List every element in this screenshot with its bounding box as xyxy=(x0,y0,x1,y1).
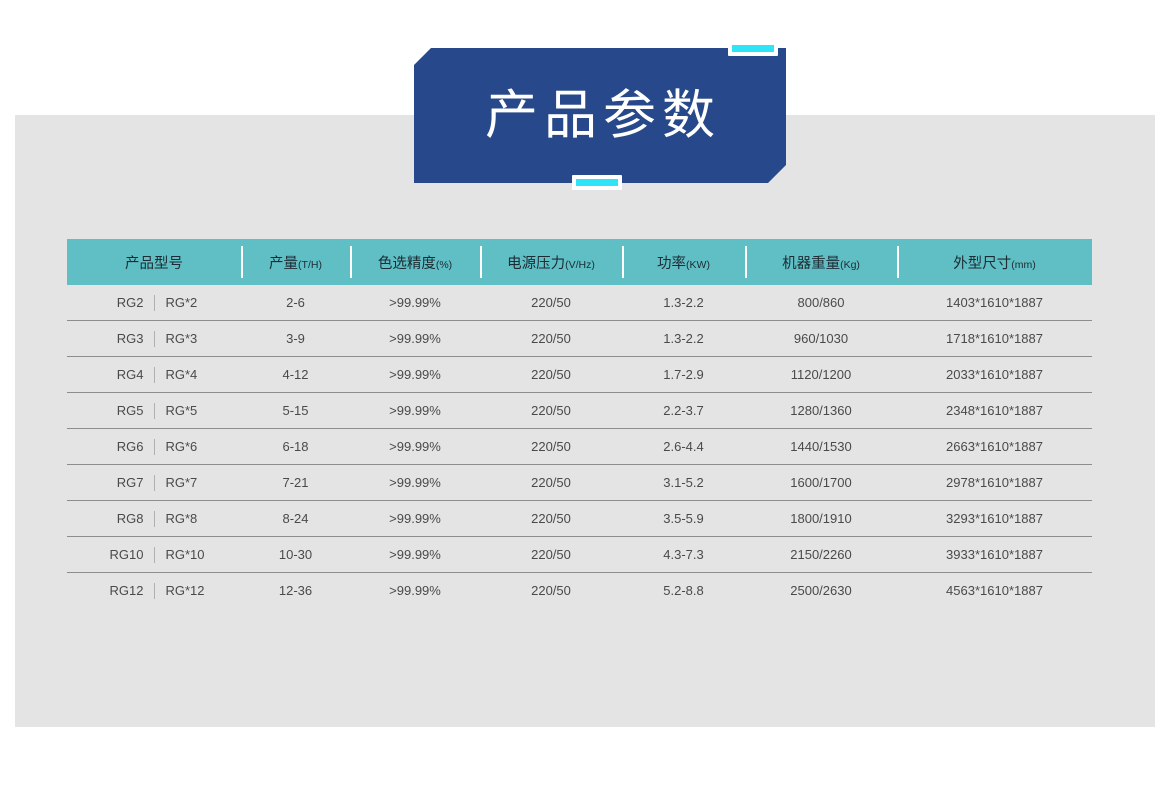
model-primary: RG2 xyxy=(80,295,154,310)
model-pair: RG2RG*2 xyxy=(67,295,241,311)
cell-power: 4.3-7.3 xyxy=(622,537,745,573)
cell-weight: 2500/2630 xyxy=(745,573,897,609)
cell-model: RG5RG*5 xyxy=(67,393,241,429)
cell-dimensions: 1403*1610*1887 xyxy=(897,285,1092,321)
cell-capacity: 4-12 xyxy=(241,357,350,393)
model-secondary: RG*8 xyxy=(155,511,229,526)
cell-model: RG8RG*8 xyxy=(67,501,241,537)
cell-power-supply: 220/50 xyxy=(480,285,622,321)
cell-power-supply: 220/50 xyxy=(480,429,622,465)
specifications-table: 产品型号 产量(T/H) 色选精度(%) 电源压力(V/Hz) 功率(KW) 机… xyxy=(67,239,1092,608)
cell-model: RG6RG*6 xyxy=(67,429,241,465)
cell-capacity: 10-30 xyxy=(241,537,350,573)
cell-power-supply: 220/50 xyxy=(480,393,622,429)
cell-dimensions: 4563*1610*1887 xyxy=(897,573,1092,609)
cell-power: 1.3-2.2 xyxy=(622,285,745,321)
table-row: RG5RG*55-15>99.99%220/502.2-3.71280/1360… xyxy=(67,393,1092,429)
column-header-unit: (%) xyxy=(436,259,452,271)
cell-power: 3.1-5.2 xyxy=(622,465,745,501)
column-header-power-supply: 电源压力(V/Hz) xyxy=(480,239,622,285)
cell-power-supply: 220/50 xyxy=(480,501,622,537)
model-secondary: RG*2 xyxy=(155,295,229,310)
page-title-banner: 产品参数 xyxy=(414,48,786,183)
model-pair: RG3RG*3 xyxy=(67,331,241,347)
cell-power: 1.3-2.2 xyxy=(622,321,745,357)
cell-accuracy: >99.99% xyxy=(350,357,480,393)
cell-accuracy: >99.99% xyxy=(350,501,480,537)
model-primary: RG3 xyxy=(80,331,154,346)
column-header-unit: (Kg) xyxy=(840,259,860,271)
model-secondary: RG*10 xyxy=(155,547,229,562)
column-header-weight: 机器重量(Kg) xyxy=(745,239,897,285)
model-primary: RG5 xyxy=(80,403,154,418)
cell-power-supply: 220/50 xyxy=(480,537,622,573)
cell-weight: 960/1030 xyxy=(745,321,897,357)
cell-weight: 2150/2260 xyxy=(745,537,897,573)
column-header-label: 机器重量 xyxy=(782,256,840,272)
table-row: RG4RG*44-12>99.99%220/501.7-2.91120/1200… xyxy=(67,357,1092,393)
cell-weight: 1120/1200 xyxy=(745,357,897,393)
cell-capacity: 12-36 xyxy=(241,573,350,609)
cell-power-supply: 220/50 xyxy=(480,573,622,609)
model-secondary: RG*6 xyxy=(155,439,229,454)
table-row: RG7RG*77-21>99.99%220/503.1-5.21600/1700… xyxy=(67,465,1092,501)
cell-power: 2.6-4.4 xyxy=(622,429,745,465)
column-header-model: 产品型号 xyxy=(67,239,241,285)
model-secondary: RG*3 xyxy=(155,331,229,346)
model-secondary: RG*12 xyxy=(155,583,229,598)
column-header-dimensions: 外型尺寸(mm) xyxy=(897,239,1092,285)
table-row: RG2RG*22-6>99.99%220/501.3-2.2800/860140… xyxy=(67,285,1092,321)
cell-weight: 1280/1360 xyxy=(745,393,897,429)
model-pair: RG6RG*6 xyxy=(67,439,241,455)
column-header-label: 电源压力 xyxy=(507,256,565,272)
cell-accuracy: >99.99% xyxy=(350,573,480,609)
model-pair: RG12RG*12 xyxy=(67,583,241,599)
column-header-label: 产品型号 xyxy=(125,256,183,272)
model-primary: RG4 xyxy=(80,367,154,382)
cell-dimensions: 1718*1610*1887 xyxy=(897,321,1092,357)
column-header-unit: (KW) xyxy=(686,259,710,271)
cell-model: RG7RG*7 xyxy=(67,465,241,501)
column-header-label: 功率 xyxy=(657,256,686,272)
cell-capacity: 2-6 xyxy=(241,285,350,321)
cell-power: 3.5-5.9 xyxy=(622,501,745,537)
cell-dimensions: 2978*1610*1887 xyxy=(897,465,1092,501)
model-primary: RG12 xyxy=(80,583,154,598)
cell-dimensions: 3293*1610*1887 xyxy=(897,501,1092,537)
table-row: RG8RG*88-24>99.99%220/503.5-5.91800/1910… xyxy=(67,501,1092,537)
cell-accuracy: >99.99% xyxy=(350,537,480,573)
column-header-label: 外型尺寸 xyxy=(953,256,1011,272)
column-header-unit: (mm) xyxy=(1011,259,1036,271)
model-secondary: RG*4 xyxy=(155,367,229,382)
table-row: RG3RG*33-9>99.99%220/501.3-2.2960/103017… xyxy=(67,321,1092,357)
cell-accuracy: >99.99% xyxy=(350,393,480,429)
cell-capacity: 3-9 xyxy=(241,321,350,357)
cell-dimensions: 2663*1610*1887 xyxy=(897,429,1092,465)
model-primary: RG7 xyxy=(80,475,154,490)
cell-power-supply: 220/50 xyxy=(480,465,622,501)
cell-capacity: 8-24 xyxy=(241,501,350,537)
column-header-unit: (T/H) xyxy=(298,259,322,271)
cell-model: RG3RG*3 xyxy=(67,321,241,357)
column-header-label: 产量 xyxy=(269,256,298,272)
cell-model: RG4RG*4 xyxy=(67,357,241,393)
table-row: RG12RG*1212-36>99.99%220/505.2-8.82500/2… xyxy=(67,573,1092,609)
cell-power-supply: 220/50 xyxy=(480,321,622,357)
column-header-capacity: 产量(T/H) xyxy=(241,239,350,285)
column-header-label: 色选精度 xyxy=(378,256,436,272)
model-pair: RG4RG*4 xyxy=(67,367,241,383)
cell-power: 2.2-3.7 xyxy=(622,393,745,429)
cell-capacity: 7-21 xyxy=(241,465,350,501)
cell-accuracy: >99.99% xyxy=(350,465,480,501)
model-primary: RG10 xyxy=(80,547,154,562)
cell-model: RG10RG*10 xyxy=(67,537,241,573)
cell-accuracy: >99.99% xyxy=(350,429,480,465)
model-pair: RG5RG*5 xyxy=(67,403,241,419)
cell-dimensions: 2348*1610*1887 xyxy=(897,393,1092,429)
cell-capacity: 6-18 xyxy=(241,429,350,465)
model-secondary: RG*7 xyxy=(155,475,229,490)
model-pair: RG8RG*8 xyxy=(67,511,241,527)
model-pair: RG10RG*10 xyxy=(67,547,241,563)
cell-weight: 1440/1530 xyxy=(745,429,897,465)
cell-capacity: 5-15 xyxy=(241,393,350,429)
cell-weight: 1600/1700 xyxy=(745,465,897,501)
column-header-unit: (V/Hz) xyxy=(565,259,595,271)
cell-dimensions: 2033*1610*1887 xyxy=(897,357,1092,393)
cell-dimensions: 3933*1610*1887 xyxy=(897,537,1092,573)
table-header-row: 产品型号 产量(T/H) 色选精度(%) 电源压力(V/Hz) 功率(KW) 机… xyxy=(67,239,1092,285)
cell-model: RG12RG*12 xyxy=(67,573,241,609)
column-header-power: 功率(KW) xyxy=(622,239,745,285)
cell-weight: 800/860 xyxy=(745,285,897,321)
page-title: 产品参数 xyxy=(414,48,786,183)
model-secondary: RG*5 xyxy=(155,403,229,418)
model-primary: RG6 xyxy=(80,439,154,454)
table-row: RG6RG*66-18>99.99%220/502.6-4.41440/1530… xyxy=(67,429,1092,465)
column-header-accuracy: 色选精度(%) xyxy=(350,239,480,285)
cell-accuracy: >99.99% xyxy=(350,285,480,321)
table-row: RG10RG*1010-30>99.99%220/504.3-7.32150/2… xyxy=(67,537,1092,573)
table-body: RG2RG*22-6>99.99%220/501.3-2.2800/860140… xyxy=(67,285,1092,608)
cell-power: 5.2-8.8 xyxy=(622,573,745,609)
cell-accuracy: >99.99% xyxy=(350,321,480,357)
model-primary: RG8 xyxy=(80,511,154,526)
model-pair: RG7RG*7 xyxy=(67,475,241,491)
cell-power: 1.7-2.9 xyxy=(622,357,745,393)
cell-model: RG2RG*2 xyxy=(67,285,241,321)
cell-power-supply: 220/50 xyxy=(480,357,622,393)
cell-weight: 1800/1910 xyxy=(745,501,897,537)
